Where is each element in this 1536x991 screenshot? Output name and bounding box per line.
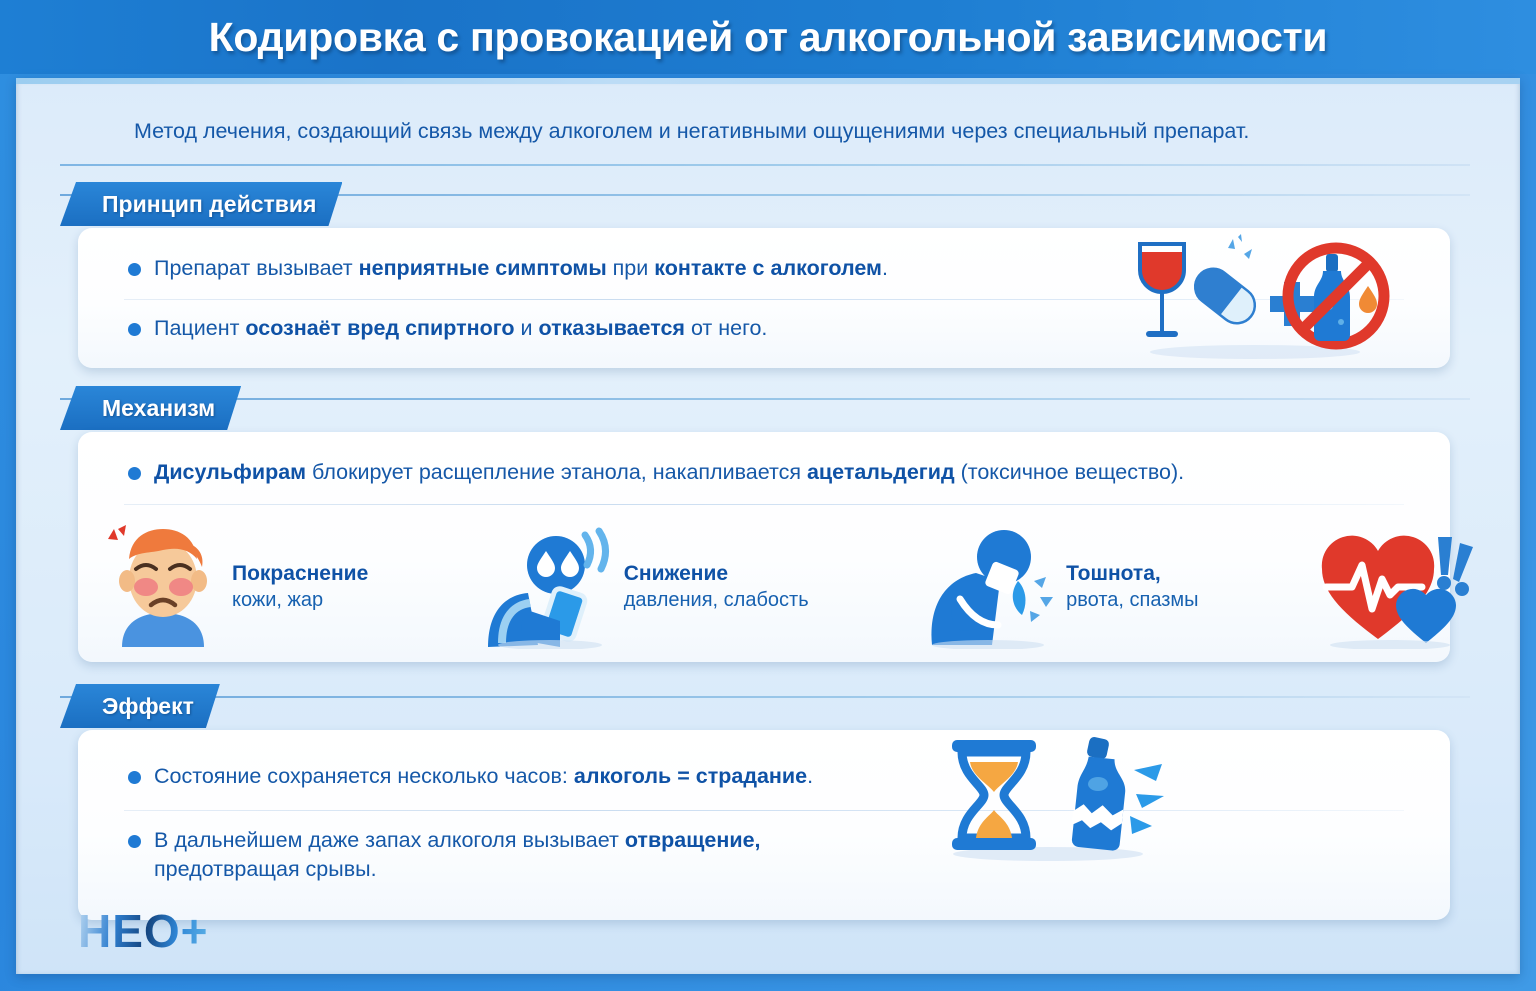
wine-glass-icon xyxy=(1140,244,1184,337)
dizzy-person-icon xyxy=(486,525,614,649)
title-band: Кодировка с провокацией от алкогольной з… xyxy=(0,0,1536,74)
page-title: Кодировка с провокацией от алкогольной з… xyxy=(209,14,1328,61)
card-effect: Состояние сохраняется несколько часов: а… xyxy=(78,730,1450,920)
list-item: Дисульфирам блокирует расщепление этанол… xyxy=(128,458,1378,487)
heartbeat-icon xyxy=(1316,525,1476,649)
symptom-label: Снижение давления, слабость xyxy=(624,561,809,612)
symptom-heart xyxy=(1316,525,1476,649)
pill-capsule-icon xyxy=(1188,261,1262,330)
icon-cluster-principle xyxy=(1120,234,1390,362)
list-item: Препарат вызывает неприятные симптомы пр… xyxy=(128,254,1028,283)
section-rule xyxy=(60,398,1470,400)
bullet-text: Дисульфирам блокирует расщепление этанол… xyxy=(154,458,1184,487)
item-divider xyxy=(124,504,1404,505)
symptom-strip: Покраснение кожи, жар xyxy=(78,518,1502,656)
bullet-text: В дальнейшем даже запах алкоголя вызывае… xyxy=(154,826,761,884)
intro-text: Метод лечения, создающий связь между алк… xyxy=(134,118,1454,146)
sparkle-icon xyxy=(1228,234,1252,259)
section-principle: Принцип действия Препарат вызывает непри… xyxy=(16,182,1520,368)
intro-divider xyxy=(60,164,1470,166)
bullet-text: Состояние сохраняется несколько часов: а… xyxy=(154,762,813,791)
symptom-label: Тошнота, рвота, спазмы xyxy=(1066,561,1198,612)
infographic-poster: Кодировка с провокацией от алкогольной з… xyxy=(0,0,1536,991)
section-tab-principle[interactable]: Принцип действия xyxy=(60,182,342,226)
section-tab-effect[interactable]: Эффект xyxy=(60,684,220,728)
bullet-text: Пациент осознаёт вред спиртного и отказы… xyxy=(154,314,767,343)
symptom-low-pressure: Снижение давления, слабость xyxy=(486,525,809,649)
item-divider xyxy=(124,810,1404,811)
section-tab-mechanism[interactable]: Механизм xyxy=(60,386,241,430)
flushed-face-icon xyxy=(104,525,222,649)
symptom-label: Покраснение кожи, жар xyxy=(232,561,368,612)
bullet-dot-icon xyxy=(128,835,141,848)
bullet-dot-icon xyxy=(128,263,141,276)
bullet-dot-icon xyxy=(128,467,141,480)
list-item: Пациент осознаёт вред спиртного и отказы… xyxy=(128,314,1028,343)
section-effect: Эффект Состояние сохраняется несколько ч… xyxy=(16,684,1520,944)
bullet-dot-icon xyxy=(128,771,141,784)
symptom-flushed-skin: Покраснение кожи, жар xyxy=(104,525,368,649)
list-item: В дальнейшем даже запах алкоголя вызывае… xyxy=(128,826,988,884)
vomiting-person-icon xyxy=(926,525,1056,649)
list-item: Состояние сохраняется несколько часов: а… xyxy=(128,762,988,791)
bullet-dot-icon xyxy=(128,323,141,336)
card-mechanism: Дисульфирам блокирует расщепление этанол… xyxy=(78,432,1450,662)
section-rule xyxy=(60,696,1470,698)
symptom-nausea: Тошнота, рвота, спазмы xyxy=(926,525,1198,649)
card-principle: Препарат вызывает неприятные симптомы пр… xyxy=(78,228,1450,368)
section-mechanism: Механизм Дисульфирам блокирует расщеплен… xyxy=(16,386,1520,666)
bullet-text: Препарат вызывает неприятные симптомы пр… xyxy=(154,254,888,283)
icon-cluster-effect xyxy=(928,732,1188,862)
hourglass-icon xyxy=(952,740,1036,850)
brand-logo: HEO+ xyxy=(78,904,209,958)
content-panel: Метод лечения, создающий связь между алк… xyxy=(16,78,1520,974)
broken-bottle-icon xyxy=(1071,736,1164,851)
